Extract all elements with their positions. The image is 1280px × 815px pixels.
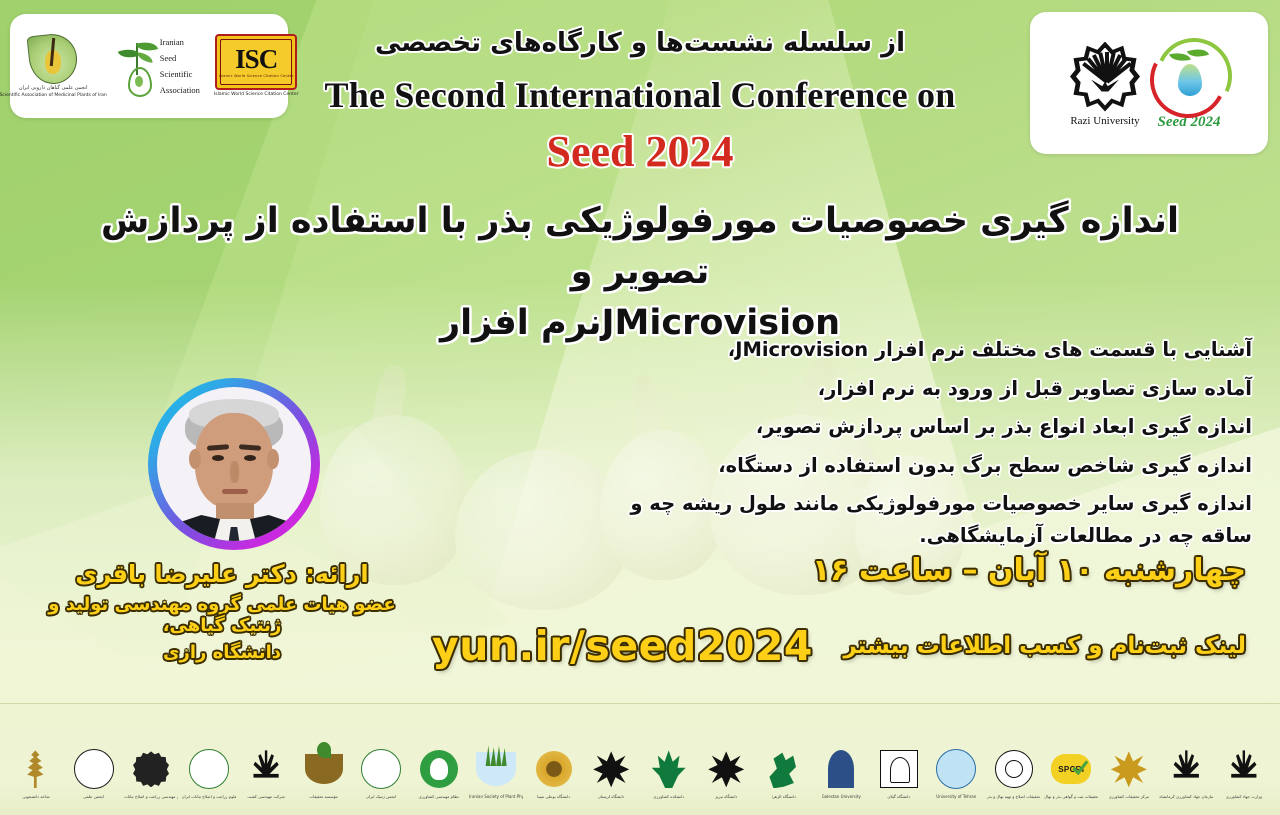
sponsor-wheat-gear-icon <box>131 747 171 791</box>
sponsor-sunflower-gold: دانشگاه بوعلی سینا <box>528 714 580 800</box>
sponsor-tehran-university: University of Tehran <box>930 714 982 800</box>
kicker-text: از سلسله نشست‌ها و کارگاه‌های تخصصی <box>0 28 1280 58</box>
sponsor-golestan-university: Golestan University <box>815 714 867 800</box>
sponsor-plant-physiology: Iranian Society of Plant Physiology <box>470 714 522 800</box>
sponsor-bowl-sprout: مؤسسه تحقیقات <box>298 714 350 800</box>
event-datetime: چهارشنبه ۱۰ آبان – ساعت ۱۶ <box>812 553 1246 588</box>
sponsor-seed-sprout-icon <box>16 747 56 791</box>
sponsor-guilan-university: دانشگاه گیلان <box>873 714 925 800</box>
sponsor-tehran-university-caption: University of Tehran <box>936 794 976 799</box>
sponsor-green-circle-stamp: انجمن علمی <box>68 714 120 800</box>
speaker-photo <box>157 387 311 541</box>
topics-list: آشنایی با قسمت های مختلف نرم افزار JMicr… <box>592 334 1252 558</box>
sponsor-green-leaf-disc-caption: نظام مهندسی کشاورزی <box>418 794 458 799</box>
sponsor-iran-map-icon <box>246 747 286 791</box>
sponsor-wheat-gear-caption: انجمن مهندسی زراعت و اصلاح نباتات <box>124 794 178 799</box>
avatar <box>148 378 320 550</box>
sponsor-leaf-seal: انجمن علوم زراعت و اصلاح نباتات ایران <box>183 714 235 800</box>
sponsor-guilan-university-icon <box>879 747 919 791</box>
speaker-affiliation: دانشگاه رازی <box>22 642 422 663</box>
conference-poster: انجمن علمی گیاهان دارویی ایران Scientifi… <box>0 0 1280 815</box>
sponsor-flower-star-caption: مرکز تحقیقات کشاورزی <box>1109 794 1150 799</box>
conference-title-en: The Second International Conference on <box>0 74 1280 116</box>
sponsor-iran-map-caption: شرکت مهندسی کشت <box>247 794 284 799</box>
main-title-line-1: اندازه گیری خصوصیات مورفولوژیکی بذر با ا… <box>60 196 1220 298</box>
sponsor-zahra-university-icon <box>764 747 804 791</box>
sponsor-research-institute-icon <box>994 747 1034 791</box>
list-item: اندازه گیری سایر خصوصیات مورفولوژیکی مان… <box>592 488 1252 551</box>
seed-2024-title: Seed 2024 <box>0 126 1280 177</box>
sponsor-lorestan-university-caption: دانشگاه لرستان <box>598 794 625 799</box>
sponsor-tabriz-university: دانشگاه تبریز <box>700 714 752 800</box>
page-title: اندازه گیری خصوصیات مورفولوژیکی بذر با ا… <box>60 196 1220 348</box>
sponsor-green-circle-stamp-icon <box>74 747 114 791</box>
sponsor-green-circle-stamp-caption: انجمن علمی <box>83 794 104 799</box>
sponsor-spcri-icon: SPCRI <box>1051 747 1091 791</box>
sponsor-spcri: SPCRIمؤسسه تحقیقات ثبت و گواهی بذر و نها… <box>1045 714 1097 800</box>
sponsor-jahad-kermanshah-icon <box>1166 747 1206 791</box>
sponsor-seed-sprout-caption: شاخه دانشجویی <box>22 794 49 799</box>
sponsor-tabriz-university-icon <box>706 747 746 791</box>
sponsor-leaf-seal-caption: انجمن علوم زراعت و اصلاح نباتات ایران <box>182 794 236 799</box>
sponsor-plant-physiology-caption: Iranian Society of Plant Physiology <box>469 794 523 799</box>
sponsor-flower-star: مرکز تحقیقات کشاورزی <box>1103 714 1155 800</box>
sponsor-logo-strip: شاخه دانشجوییانجمن علمیانجمن مهندسی زراع… <box>0 703 1280 815</box>
sponsor-jahad-keshavarzi: وزارت جهاد کشاورزی <box>1218 714 1270 800</box>
sponsor-genetics-circle-caption: انجمن ژنتیک ایران <box>366 794 396 799</box>
registration-url-link[interactable]: yun.ir/seed2024 <box>432 622 813 670</box>
sponsor-sunflower-gold-icon <box>534 747 574 791</box>
sponsor-golestan-university-icon <box>821 747 861 791</box>
sponsor-genetics-circle-icon <box>361 747 401 791</box>
sponsor-bowl-sprout-caption: مؤسسه تحقیقات <box>309 794 337 799</box>
list-item: اندازه گیری شاخص سطح برگ بدون استفاده از… <box>592 450 1252 482</box>
sponsor-green-leaf-disc-icon <box>419 747 459 791</box>
sponsor-tabriz-university-caption: دانشگاه تبریز <box>715 794 737 799</box>
sponsor-jahad-keshavarzi-icon <box>1224 747 1264 791</box>
sponsor-flower-star-icon <box>1109 747 1149 791</box>
sponsor-golestan-university-caption: Golestan University <box>822 794 861 799</box>
sponsor-guilan-university-caption: دانشگاه گیلان <box>887 794 910 799</box>
registration-label: لینک ثبت‌نام و کسب اطلاعات بیشتر <box>843 633 1246 659</box>
sponsor-green-leaf-disc: نظام مهندسی کشاورزی <box>413 714 465 800</box>
sponsor-agri-green-emblem-caption: دانشکده کشاورزی <box>653 794 684 799</box>
sponsor-research-institute-caption: مؤسسه تحقیقات اصلاح و تهیه نهال و بذر <box>987 794 1041 799</box>
speaker-role: عضو هیات علمی گروه مهندسی تولید و ژنتیک … <box>22 594 422 636</box>
sponsor-jahad-keshavarzi-caption: وزارت جهاد کشاورزی <box>1226 794 1262 799</box>
sponsor-seed-sprout: شاخه دانشجویی <box>10 714 62 800</box>
list-item: اندازه گیری ابعاد انواع بذر بر اساس پردا… <box>592 411 1252 443</box>
sponsor-wheat-gear: انجمن مهندسی زراعت و اصلاح نباتات <box>125 714 177 800</box>
sponsor-zahra-university: دانشگاه الزهرا <box>758 714 810 800</box>
sponsor-sunflower-gold-caption: دانشگاه بوعلی سینا <box>537 794 570 799</box>
list-item: آشنایی با قسمت های مختلف نرم افزار JMicr… <box>592 334 1252 366</box>
speaker-info: ارائه: دکتر علیرضا باقری عضو هیات علمی گ… <box>22 560 422 669</box>
sponsor-plant-physiology-icon <box>476 747 516 791</box>
sponsor-jahad-kermanshah-caption: سازمان جهاد کشاورزی کرمانشاه <box>1159 794 1213 799</box>
sponsor-lorestan-university-icon <box>591 747 631 791</box>
main-title-prefix: نرم افزار <box>440 303 602 343</box>
sponsor-leaf-seal-icon <box>189 747 229 791</box>
sponsor-research-institute: مؤسسه تحقیقات اصلاح و تهیه نهال و بذر <box>988 714 1040 800</box>
sponsor-iran-map: شرکت مهندسی کشت <box>240 714 292 800</box>
sponsor-bowl-sprout-icon <box>304 747 344 791</box>
sponsor-genetics-circle: انجمن ژنتیک ایران <box>355 714 407 800</box>
sponsor-spcri-caption: مؤسسه تحقیقات ثبت و گواهی بذر و نهال <box>1044 794 1098 799</box>
sponsor-lorestan-university: دانشگاه لرستان <box>585 714 637 800</box>
list-item: آماده سازی تصاویر قبل از ورود به نرم افز… <box>592 373 1252 405</box>
speaker-name: ارائه: دکتر علیرضا باقری <box>22 560 422 588</box>
sponsor-agri-green-emblem-icon <box>649 747 689 791</box>
sponsor-agri-green-emblem: دانشکده کشاورزی <box>643 714 695 800</box>
sponsor-tehran-university-icon <box>936 747 976 791</box>
razi-university-caption: Razi University <box>1070 115 1139 127</box>
sponsor-jahad-kermanshah: سازمان جهاد کشاورزی کرمانشاه <box>1160 714 1212 800</box>
sponsor-zahra-university-caption: دانشگاه الزهرا <box>772 794 796 799</box>
